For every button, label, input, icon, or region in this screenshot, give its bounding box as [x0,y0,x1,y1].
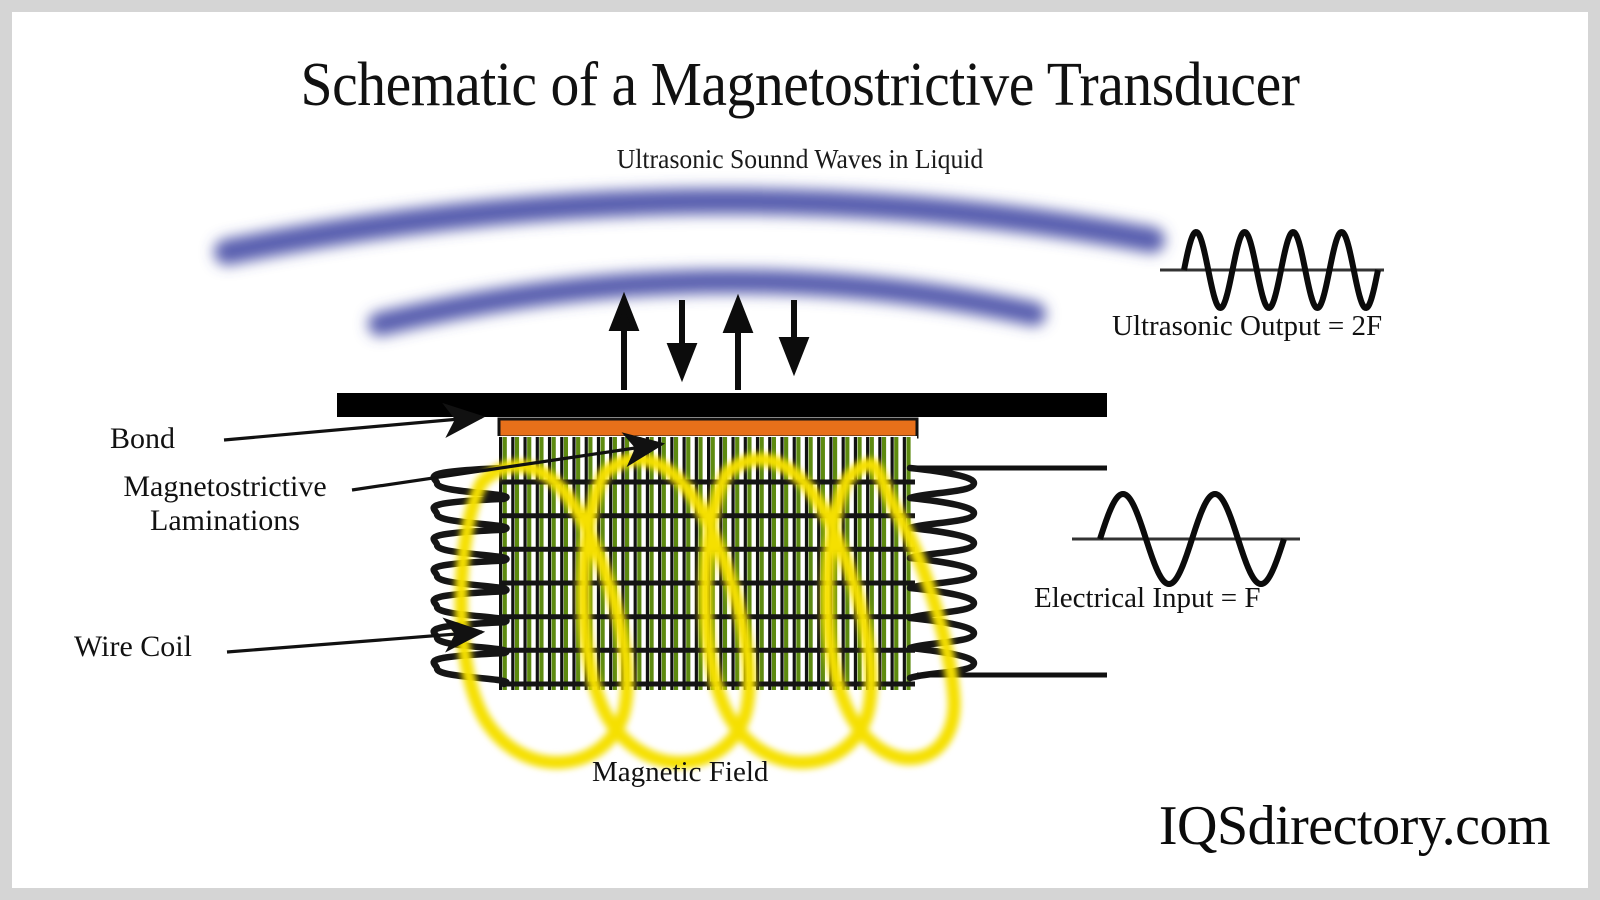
label-electrical-input: Electrical Input = F [1034,582,1261,614]
electrical-input-waveform [1072,494,1300,584]
vibration-arrows-group [613,300,805,390]
diagram-canvas: Schematic of a Magnetostrictive Transduc… [12,12,1588,888]
watermark-iqsdirectory: IQSdirectory.com [1159,794,1550,858]
ultrasonic-sound-wave-arcs [227,201,1152,324]
label-wire-coil: Wire Coil [74,630,192,664]
transducer-schematic [12,12,1588,888]
label-magnetic-field: Magnetic Field [592,756,768,788]
vibration-arrow-up-2 [727,302,749,390]
leader-bond [224,417,482,440]
ultrasonic-output-waveform [1160,232,1384,308]
label-ultrasonic-output: Ultrasonic Output = 2F [1112,310,1382,342]
vibration-arrow-down-2 [783,300,805,368]
radiating-plate [337,393,1107,417]
vibration-arrow-up-1 [613,300,635,390]
vibration-arrow-down-1 [671,300,693,374]
label-bond: Bond [110,422,175,456]
label-laminations: Magnetostrictive Laminations [90,470,360,537]
bond-layer [499,419,917,437]
